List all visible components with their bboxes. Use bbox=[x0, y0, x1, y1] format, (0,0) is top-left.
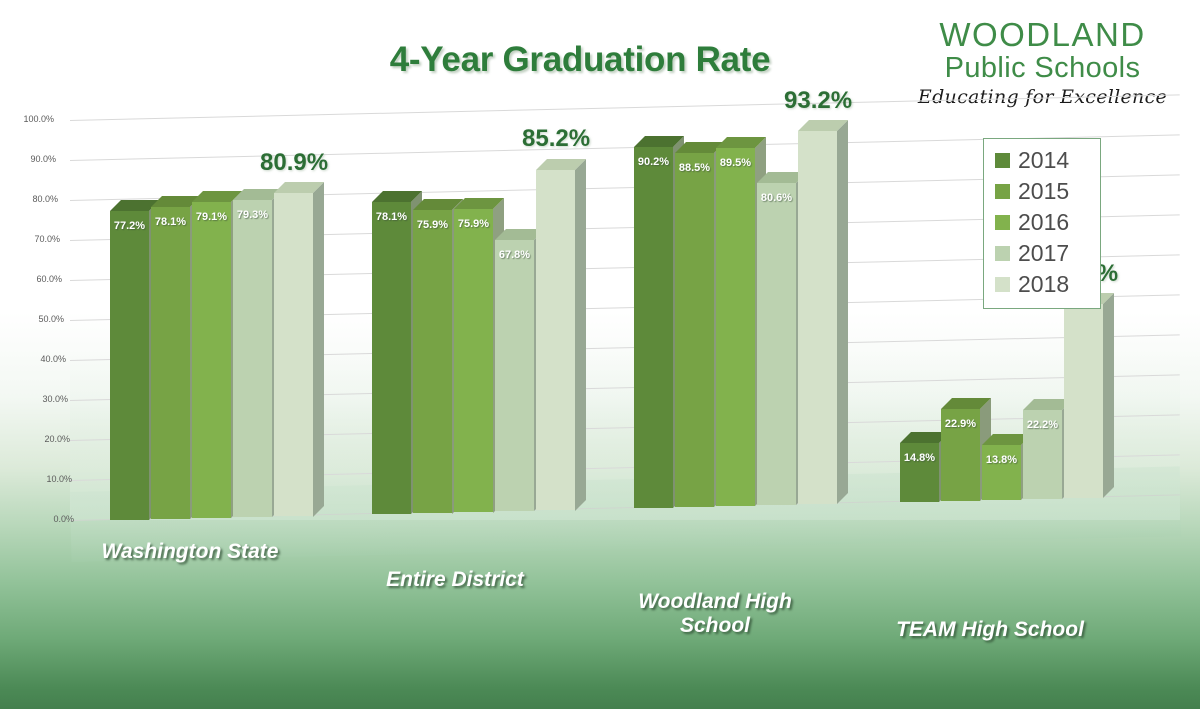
bar-value-label: 79.3% bbox=[233, 209, 272, 221]
bar-2017[interactable]: 22.2% bbox=[1023, 410, 1062, 499]
bar-2015[interactable]: 22.9% bbox=[941, 409, 980, 501]
legend-swatch-icon bbox=[995, 153, 1010, 168]
bar-2015[interactable]: 75.9% bbox=[413, 210, 452, 514]
bar-front-face bbox=[757, 183, 796, 505]
bar-2016[interactable]: 75.9% bbox=[454, 209, 493, 513]
bar-front-face bbox=[372, 202, 411, 514]
bar-2018[interactable] bbox=[274, 193, 313, 517]
bar-side-face bbox=[1103, 293, 1114, 498]
y-axis-tick-label: 100.0% bbox=[8, 114, 54, 124]
bar-front-face bbox=[274, 193, 313, 517]
bar-value-label: 22.2% bbox=[1023, 419, 1062, 431]
bar-2015[interactable]: 88.5% bbox=[675, 153, 714, 507]
bar-front-face bbox=[233, 200, 272, 517]
legend-label: 2018 bbox=[1018, 273, 1069, 296]
category-label: TEAM High School bbox=[860, 618, 1120, 642]
bar-value-label: 90.2% bbox=[634, 156, 673, 168]
bar-front-face bbox=[798, 131, 837, 504]
y-axis-tick-label: 60.0% bbox=[16, 274, 62, 284]
legend-label: 2015 bbox=[1018, 180, 1069, 203]
bar-front-face bbox=[536, 170, 575, 511]
legend-item-2017[interactable]: 2017 bbox=[984, 238, 1100, 269]
bar-value-label: 88.5% bbox=[675, 162, 714, 174]
legend-swatch-icon bbox=[995, 215, 1010, 230]
bar-value-label: 22.9% bbox=[941, 418, 980, 430]
legend-swatch-icon bbox=[995, 277, 1010, 292]
legend-item-2018[interactable]: 2018 bbox=[984, 269, 1100, 300]
bar-side-face bbox=[313, 182, 324, 517]
bar-2018[interactable] bbox=[798, 131, 837, 504]
chart-title: 4-Year Graduation Rate bbox=[300, 40, 860, 80]
legend-label: 2016 bbox=[1018, 211, 1069, 234]
legend-item-2015[interactable]: 2015 bbox=[984, 176, 1100, 207]
bar-front-face bbox=[634, 147, 673, 508]
bar-value-label: 75.9% bbox=[413, 219, 452, 231]
bar-group: 90.2%88.5%89.5%80.6%93.2% bbox=[634, 100, 849, 521]
legend-label: 2017 bbox=[1018, 242, 1069, 265]
bar-value-label: 14.8% bbox=[900, 452, 939, 464]
category-label: Entire District bbox=[325, 568, 585, 592]
bar-2017[interactable]: 67.8% bbox=[495, 240, 534, 511]
bar-side-face bbox=[575, 159, 586, 511]
bar-group: 78.1%75.9%75.9%67.8%85.2% bbox=[372, 100, 587, 521]
bar-front-face bbox=[1064, 304, 1103, 498]
highlight-value-label: 93.2% bbox=[784, 87, 852, 115]
y-axis-tick-label: 50.0% bbox=[18, 314, 64, 324]
y-axis-tick-label: 40.0% bbox=[20, 354, 66, 364]
logo-line-public-schools: Public Schools bbox=[915, 53, 1170, 85]
bar-2018[interactable] bbox=[1064, 304, 1103, 498]
bar-2014[interactable]: 77.2% bbox=[110, 211, 149, 520]
highlight-value-label: 85.2% bbox=[522, 125, 590, 153]
y-axis-tick-label: 20.0% bbox=[24, 434, 70, 444]
bar-front-face bbox=[675, 153, 714, 507]
bar-2018[interactable] bbox=[536, 170, 575, 511]
bar-value-label: 78.1% bbox=[372, 211, 411, 223]
bar-front-face bbox=[454, 209, 493, 513]
bar-side-face bbox=[837, 120, 848, 504]
category-label-line: TEAM High School bbox=[860, 618, 1120, 642]
bar-2015[interactable]: 78.1% bbox=[151, 207, 190, 519]
bar-front-face bbox=[495, 240, 534, 511]
bar-value-label: 13.8% bbox=[982, 454, 1021, 466]
bar-value-label: 89.5% bbox=[716, 157, 755, 169]
bar-value-label: 77.2% bbox=[110, 220, 149, 232]
bar-value-label: 80.6% bbox=[757, 192, 796, 204]
legend-label: 2014 bbox=[1018, 149, 1069, 172]
bar-2017[interactable]: 80.6% bbox=[757, 183, 796, 505]
bar-2016[interactable]: 79.1% bbox=[192, 202, 231, 518]
category-label-line: Washington State bbox=[60, 540, 320, 564]
bar-front-face bbox=[110, 211, 149, 520]
legend-item-2016[interactable]: 2016 bbox=[984, 207, 1100, 238]
bar-front-face bbox=[151, 207, 190, 519]
bar-group: 77.2%78.1%79.1%79.3%80.9% bbox=[110, 100, 325, 521]
bar-value-label: 75.9% bbox=[454, 218, 493, 230]
y-axis-tick-label: 70.0% bbox=[14, 234, 60, 244]
y-axis-tick-label: 0.0% bbox=[28, 514, 74, 524]
bar-2014[interactable]: 78.1% bbox=[372, 202, 411, 514]
bar-value-label: 79.1% bbox=[192, 211, 231, 223]
bar-value-label: 78.1% bbox=[151, 216, 190, 228]
bar-2017[interactable]: 79.3% bbox=[233, 200, 272, 517]
bar-2014[interactable]: 90.2% bbox=[634, 147, 673, 508]
category-label: Washington State bbox=[60, 540, 320, 564]
bar-front-face bbox=[716, 148, 755, 506]
bar-front-face bbox=[413, 210, 452, 514]
bar-value-label: 67.8% bbox=[495, 249, 534, 261]
bar-front-face bbox=[192, 202, 231, 518]
bar-2016[interactable]: 89.5% bbox=[716, 148, 755, 506]
category-label-line: Entire District bbox=[325, 568, 585, 592]
category-label-line: Woodland High bbox=[585, 590, 845, 614]
y-axis-tick-label: 90.0% bbox=[10, 154, 56, 164]
chart-canvas: 4-Year Graduation Rate WOODLAND Public S… bbox=[0, 0, 1200, 709]
chart-legend[interactable]: 20142015201620172018 bbox=[983, 138, 1101, 309]
bar-2016[interactable]: 13.8% bbox=[982, 445, 1021, 500]
y-axis-tick-label: 80.0% bbox=[12, 194, 58, 204]
legend-swatch-icon bbox=[995, 246, 1010, 261]
bar-2014[interactable]: 14.8% bbox=[900, 443, 939, 502]
highlight-value-label: 80.9% bbox=[260, 149, 328, 177]
category-label-line: School bbox=[585, 614, 845, 638]
legend-swatch-icon bbox=[995, 184, 1010, 199]
y-axis-tick-label: 10.0% bbox=[26, 474, 72, 484]
category-label: Woodland HighSchool bbox=[585, 590, 845, 638]
legend-item-2014[interactable]: 2014 bbox=[984, 145, 1100, 176]
logo-line-woodland: WOODLAND bbox=[915, 18, 1170, 53]
y-axis-tick-label: 30.0% bbox=[22, 394, 68, 404]
